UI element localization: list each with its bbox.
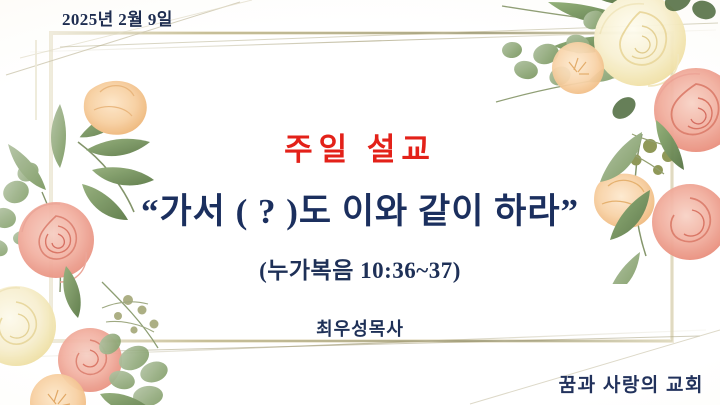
sermon-slide: 2025년 2월 9일 주일 설교 “가서 ( ? )도 이와 같이 하라” (… [0,0,720,405]
sermon-title: “가서 ( ? )도 이와 같이 하라” [0,183,720,234]
scripture-reference: (누가복음 10:36~37) [0,251,720,285]
sermon-date: 2025년 2월 9일 [62,5,173,30]
church-name: 꿈과 사랑의 교회 [559,370,704,397]
speaker-name: 최우성목사 [0,315,720,341]
sermon-kicker: 주일 설교 [0,124,720,169]
